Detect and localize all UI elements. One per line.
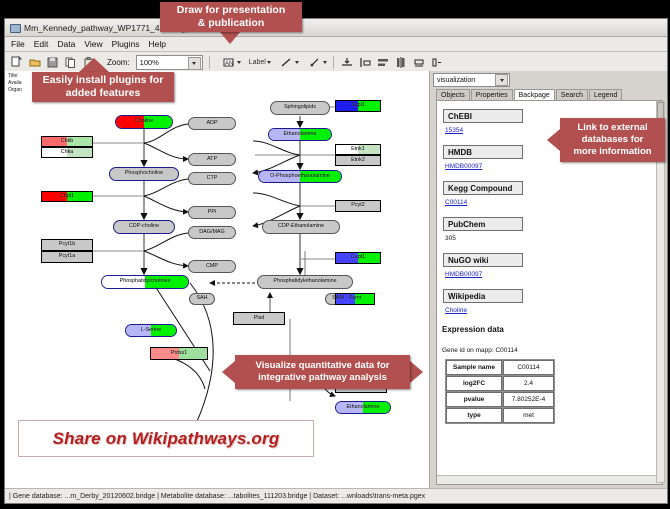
node-atp[interactable]: ATP: [188, 153, 236, 166]
chevron-down-icon[interactable]: [323, 61, 327, 64]
cell-value: met: [503, 408, 554, 423]
menu-item-data[interactable]: Data: [57, 39, 75, 49]
menu-bar: File Edit Data View Plugins Help: [5, 37, 667, 52]
callout-draw: Draw for presentation & publication: [160, 2, 302, 32]
wikipedia-link[interactable]: Choline: [445, 307, 467, 314]
section-header-pubchem: PubChem: [443, 217, 523, 231]
zoom-label: Zoom:: [107, 58, 130, 67]
node-ethanolamine-top[interactable]: Ethanolamine: [268, 128, 332, 141]
node-cdp-choline[interactable]: CDP-choline: [113, 220, 175, 234]
cell-value: C00114: [503, 360, 554, 375]
table-row: type met: [446, 408, 554, 423]
callout-links: Link to external databases for more info…: [560, 118, 665, 162]
title-bar: Mm_Kennedy_pathway_WP1771_45176.gpml: [5, 19, 667, 37]
node-sgpl1[interactable]: Sgpl1: [335, 100, 381, 112]
node-phosphatidylethanolamine[interactable]: Phosphatidylethanolamine: [257, 275, 353, 289]
distribute-vertical-icon[interactable]: [376, 55, 391, 70]
node-pcyt1a[interactable]: Pcyt1a: [41, 251, 93, 263]
expression-data-title: Expression data: [442, 325, 504, 334]
screenshot-root: Mm_Kennedy_pathway_WP1771_45176.gpml Fil…: [0, 0, 670, 509]
save-icon[interactable]: [45, 55, 60, 70]
shape-tool-dropdown[interactable]: AN: [221, 55, 241, 70]
copy-icon[interactable]: [63, 55, 78, 70]
chebi-link[interactable]: 15354: [445, 127, 463, 134]
open-folder-icon[interactable]: [27, 55, 42, 70]
stack-center-icon[interactable]: [412, 55, 427, 70]
expression-table: Sample name C00114 log2FC 2.4 pvalue 7.8…: [445, 359, 555, 424]
visualization-value: visualization: [437, 77, 475, 84]
shape-icon[interactable]: AN: [221, 55, 236, 70]
gene-id-line: Gene id on mapp: C00114: [442, 347, 518, 354]
chevron-down-icon[interactable]: [188, 57, 201, 70]
kegg-link[interactable]: C00114: [445, 199, 467, 206]
zoom-value: 100%: [140, 58, 159, 67]
node-sphingolipids[interactable]: Sphingolipids: [270, 101, 330, 115]
callout-visualize-arrow-left-icon: [222, 361, 235, 383]
node-cept1[interactable]: Cept1: [335, 252, 381, 264]
callout-links-arrow-icon: [547, 129, 560, 151]
status-bar: | Gene database: ...m_Derby_20120602.bri…: [5, 488, 667, 503]
nugo-link[interactable]: HMDB00097: [445, 271, 482, 278]
node-adp[interactable]: ADP: [188, 117, 236, 130]
table-row: Sample name C00114: [446, 360, 554, 375]
callout-visualize-line2: integrative pathway analysis: [256, 372, 390, 384]
chevron-down-icon[interactable]: [295, 61, 299, 64]
cell-value: 2.4: [503, 376, 554, 391]
callout-plugins-line1: Easily install plugins for: [43, 74, 164, 87]
menu-item-help[interactable]: Help: [149, 39, 166, 49]
line-icon[interactable]: [279, 55, 294, 70]
group-icon[interactable]: [430, 55, 445, 70]
align-left-icon[interactable]: [358, 55, 373, 70]
node-ptdss1[interactable]: Ptdss1: [150, 347, 208, 360]
label-tool-dropdown[interactable]: Label: [249, 59, 271, 66]
callout-draw-line2: & publication: [177, 17, 286, 30]
node-pcyt2[interactable]: Pcyt2: [335, 200, 381, 212]
callout-visualize-arrow-right-icon: [410, 361, 423, 383]
interaction-icon[interactable]: [307, 55, 322, 70]
node-chkb[interactable]: Chkb: [41, 136, 93, 147]
node-chka[interactable]: Chka: [41, 147, 93, 158]
section-header-hmdb: HMDB: [443, 145, 523, 159]
node-ethanolamine-bottom[interactable]: Ethanolamine: [335, 401, 391, 414]
align-top-icon[interactable]: [340, 55, 355, 70]
callout-draw-line1: Draw for presentation: [177, 4, 286, 17]
section-header-chebi: ChEBI: [443, 109, 523, 123]
node-ctp[interactable]: CTP: [188, 172, 236, 185]
node-l-serine-left[interactable]: L-Serine: [125, 324, 177, 337]
share-banner: Share on Wikipathways.org: [18, 420, 314, 457]
share-banner-text: Share on Wikipathways.org: [53, 429, 280, 449]
table-row: log2FC 2.4: [446, 376, 554, 391]
zoom-input[interactable]: 100%: [136, 55, 203, 70]
node-chpt1[interactable]: Chpt1: [41, 191, 93, 202]
chevron-down-icon[interactable]: [267, 61, 271, 64]
hmdb-link[interactable]: HMDB00097: [445, 163, 482, 170]
node-etnk1[interactable]: Etnk1: [335, 144, 381, 155]
menu-item-file[interactable]: File: [11, 39, 25, 49]
node-choline-top[interactable]: Choline: [115, 115, 173, 129]
cell-key: pvalue: [446, 392, 502, 407]
panel-hscrollbar[interactable]: [437, 475, 662, 484]
callout-links-line3: more information: [573, 146, 651, 158]
node-etnk2[interactable]: Etnk2: [335, 155, 381, 166]
cell-key: Sample name: [446, 360, 502, 375]
node-phosphatidylcholines[interactable]: Phosphatidylcholines: [101, 275, 189, 289]
node-cdp-ethanolamine[interactable]: CDP-Ethanolamine: [262, 220, 340, 234]
label-tool-caption: Label: [249, 59, 266, 66]
callout-links-line2: databases for: [573, 134, 651, 146]
callout-visualize-line1: Visualize quantitative data for: [256, 360, 390, 372]
menu-item-plugins[interactable]: Plugins: [112, 39, 140, 49]
node-o-phosphoethanolamine[interactable]: O-Phosphoethanolamine: [258, 170, 342, 183]
cell-value: 7.80252E-4: [503, 392, 554, 407]
node-sah[interactable]: SAH: [189, 293, 215, 305]
menu-item-edit[interactable]: Edit: [34, 39, 49, 49]
callout-links-line1: Link to external: [573, 122, 651, 134]
section-header-kegg: Kegg Compound: [443, 181, 523, 195]
status-text: | Gene database: ...m_Derby_20120602.bri…: [5, 493, 425, 500]
visualization-dropdown[interactable]: visualization: [433, 73, 510, 87]
new-file-icon[interactable]: [9, 55, 24, 70]
cell-key: type: [446, 408, 502, 423]
node-phosphocholine[interactable]: Phosphocholine: [109, 167, 179, 181]
app-icon: [9, 22, 20, 33]
cell-key: log2FC: [446, 376, 502, 391]
node-ppi[interactable]: PPi: [188, 206, 236, 219]
callout-plugins-line2: added features: [43, 87, 164, 100]
chevron-down-icon[interactable]: [495, 74, 508, 86]
node-dagmag[interactable]: DAG/MAG: [188, 226, 236, 239]
distribute-horizontal-icon[interactable]: [394, 55, 409, 70]
node-pisd[interactable]: Pisd: [233, 312, 285, 325]
node-pcyt1b[interactable]: Pcyt1b: [41, 239, 93, 251]
pubchem-value: 305: [445, 235, 456, 242]
table-row: pvalue 7.80252E-4: [446, 392, 554, 407]
node-cmp[interactable]: CMP: [188, 260, 236, 273]
callout-visualize: Visualize quantitative data for integrat…: [235, 355, 410, 389]
line-tool-dropdown[interactable]: [279, 55, 299, 70]
interaction-tool-dropdown[interactable]: [307, 55, 327, 70]
callout-plugins: Easily install plugins for added feature…: [32, 72, 174, 102]
menu-item-view[interactable]: View: [84, 39, 102, 49]
chevron-down-icon[interactable]: [237, 61, 241, 64]
section-header-nugo: NuGO wiki: [443, 253, 523, 267]
svg-text:AN: AN: [225, 61, 233, 67]
section-header-wikipedia: Wikipedia: [443, 289, 523, 303]
